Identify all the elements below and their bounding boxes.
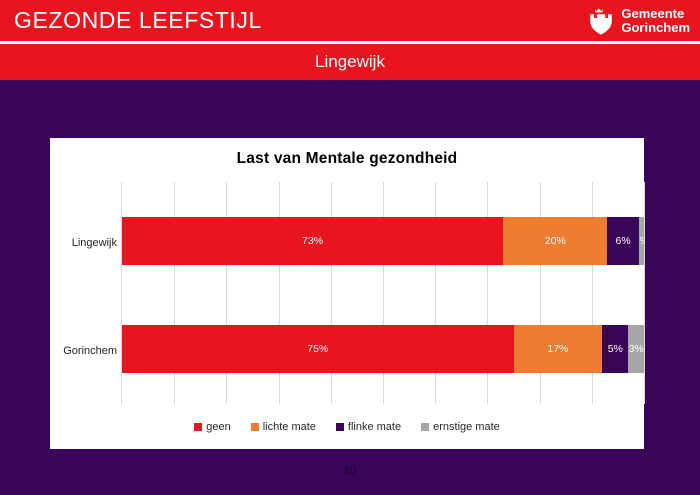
- gemeente-gorinchem-logo: Gemeente Gorinchem: [589, 6, 690, 36]
- bar-segment-flinke-mate[interactable]: 6%: [607, 217, 638, 265]
- legend-item-geen[interactable]: geen: [194, 421, 230, 433]
- bar-segment-geen[interactable]: 73%: [122, 217, 503, 265]
- logo-text-line2: Gorinchem: [621, 20, 690, 35]
- legend-label: ernstige mate: [433, 421, 500, 433]
- legend-item-ernstige-mate[interactable]: ernstige mate: [421, 421, 500, 433]
- legend-swatch-icon: [194, 423, 202, 431]
- page-title: GEZONDE LEEFSTIJL: [14, 7, 262, 34]
- bar-row[interactable]: 75% 17% 5% 3%: [122, 325, 644, 373]
- y-axis-labels: Lingewijk Gorinchem: [50, 182, 121, 404]
- chart-plot-wrapper: Lingewijk Gorinchem 73% 20% 6%: [50, 182, 644, 404]
- logo-text: Gemeente Gorinchem: [621, 7, 690, 35]
- gorinchem-crest-icon: [589, 6, 615, 36]
- bar-segment-lichte-mate[interactable]: 17%: [514, 325, 603, 373]
- legend-swatch-icon: [421, 423, 429, 431]
- bar-segment-ernstige-mate[interactable]: 3%: [628, 325, 644, 373]
- slide-body: Last van Mentale gezondheid Lingewijk Go…: [0, 80, 700, 495]
- legend-label: geen: [206, 421, 230, 433]
- y-axis-label-gorinchem: Gorinchem: [63, 345, 117, 357]
- legend-swatch-icon: [251, 423, 259, 431]
- bar-row[interactable]: 73% 20% 6% 1%: [122, 217, 644, 265]
- bar-segment-ernstige-mate[interactable]: 1%: [639, 217, 644, 265]
- plot-area: 73% 20% 6% 1% 75% 17% 5% 3%: [121, 182, 644, 404]
- page-number: 10: [0, 465, 700, 477]
- bar-segment-geen[interactable]: 75%: [122, 325, 514, 373]
- legend-label: lichte mate: [263, 421, 316, 433]
- legend-item-lichte-mate[interactable]: lichte mate: [251, 421, 316, 433]
- legend-label: flinke mate: [348, 421, 401, 433]
- chart-card: Last van Mentale gezondheid Lingewijk Go…: [50, 138, 644, 449]
- bar-segment-lichte-mate[interactable]: 20%: [503, 217, 607, 265]
- y-axis-label-lingewijk: Lingewijk: [72, 237, 117, 249]
- subheader-title: Lingewijk: [315, 52, 385, 72]
- bar-segment-flinke-mate[interactable]: 5%: [602, 325, 628, 373]
- chart-legend: geen lichte mate flinke mate ernstige ma…: [50, 421, 644, 433]
- app-header: GEZONDE LEEFSTIJL Gemeente Gorinchem: [0, 0, 700, 41]
- logo-text-line1: Gemeente: [621, 6, 684, 21]
- legend-item-flinke-mate[interactable]: flinke mate: [336, 421, 401, 433]
- subheader-bar: Lingewijk: [0, 44, 700, 80]
- legend-swatch-icon: [336, 423, 344, 431]
- gridline-100: [644, 182, 645, 404]
- chart-title: Last van Mentale gezondheid: [50, 150, 644, 168]
